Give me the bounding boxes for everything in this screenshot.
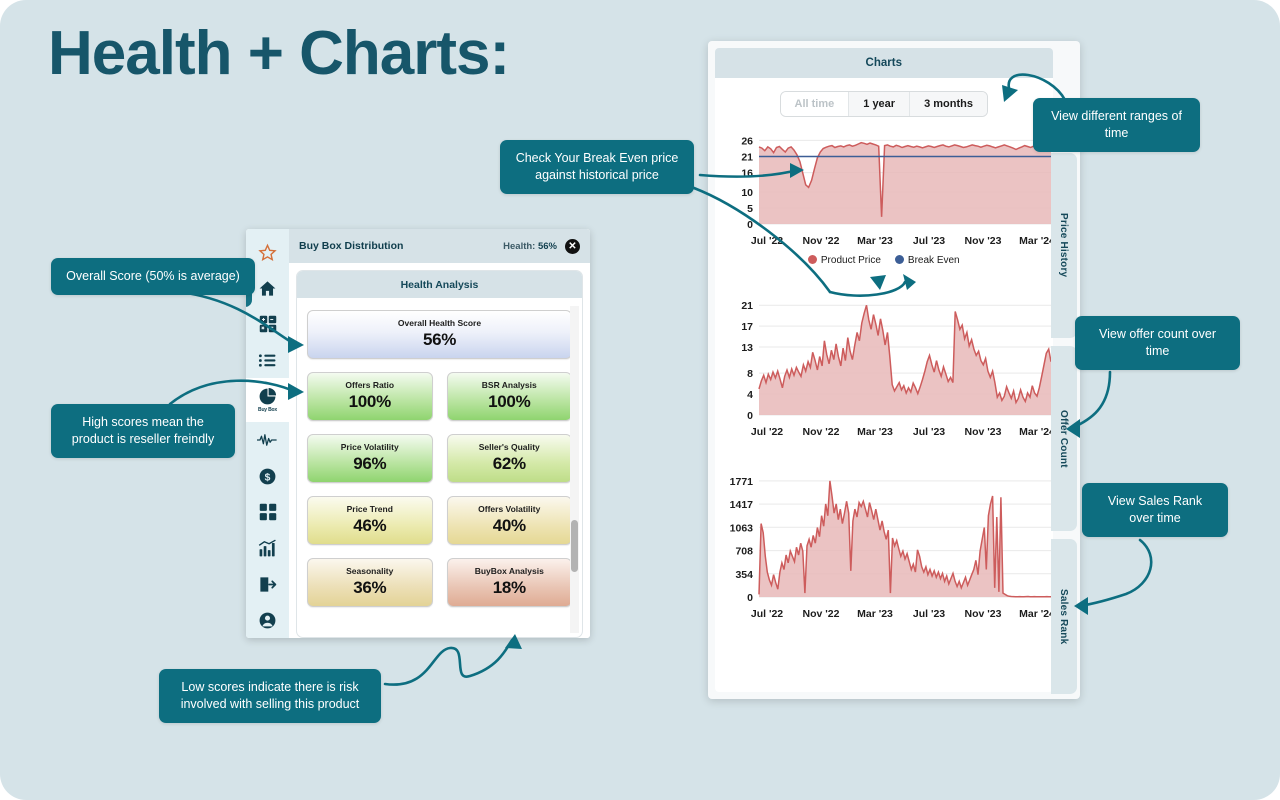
vtab-label: Sales Rank: [1058, 589, 1069, 644]
chart-price-history[interactable]: 2621161050Jul '22Nov '22Mar '23Jul '23No…: [715, 124, 1053, 266]
y-tick-label: 21: [741, 152, 753, 164]
health-score-value: 56%: [538, 241, 557, 252]
x-tick-label: Mar '24: [1019, 426, 1052, 438]
legend-label: Break Even: [908, 255, 960, 266]
arrow-low: [385, 640, 512, 685]
sidebar-item-dollar[interactable]: $: [246, 458, 289, 494]
sidebar-item-bar-chart[interactable]: [246, 530, 289, 566]
metric-card: Price Trend46%: [307, 496, 433, 545]
range-1-year[interactable]: 1 year: [848, 92, 909, 116]
health-analysis-card: Health Analysis Overall Health Score 56%…: [296, 270, 583, 638]
scrollbar-track[interactable]: [570, 306, 579, 633]
metric-label: Price Trend: [312, 504, 428, 514]
legend-swatch: [808, 255, 817, 264]
page-title: Health + Charts:: [48, 18, 509, 89]
sales-rank-plot: 1771141710637083540Jul '22Nov '22Mar '23…: [715, 467, 1053, 627]
metric-value: 56%: [312, 330, 567, 350]
price-history-plot: 2621161050Jul '22Nov '22Mar '23Jul '23No…: [715, 124, 1053, 254]
metric-value: 96%: [312, 454, 428, 474]
arrow-rank: [1080, 540, 1151, 606]
range-3-months[interactable]: 3 months: [909, 92, 987, 116]
health-analysis-title: Health Analysis: [297, 271, 582, 298]
vtab-label: Offer Count: [1058, 410, 1069, 468]
legend-item-break-even: Break Even: [895, 255, 960, 266]
x-tick-label: Nov '23: [965, 608, 1002, 620]
sidebar-item-logout[interactable]: [246, 566, 289, 602]
metric-label: Offers Volatility: [452, 504, 568, 514]
y-tick-label: 10: [741, 187, 753, 199]
vtab-label: Price History: [1058, 213, 1069, 277]
callout-high-scores: High scores mean the product is reseller…: [51, 404, 235, 458]
range-all-time[interactable]: All time: [781, 92, 849, 116]
scrollbar-thumb[interactable]: [571, 520, 578, 572]
y-tick-label: 16: [741, 168, 753, 180]
x-tick-label: Jul '22: [751, 235, 783, 247]
health-body: Health Analysis Overall Health Score 56%…: [289, 263, 590, 638]
window-title: Buy Box Distribution: [299, 240, 495, 252]
series-area: [759, 481, 1051, 597]
health-main: Buy Box Distribution Health: 56% ✕ Healt…: [289, 229, 590, 638]
y-tick-label: 1771: [730, 476, 754, 488]
y-tick-label: 354: [735, 569, 753, 581]
metric-label: Price Volatility: [312, 442, 428, 452]
x-tick-label: Mar '24: [1019, 608, 1052, 620]
sidebar-item-calculator[interactable]: [246, 306, 289, 342]
y-tick-label: 0: [747, 592, 753, 604]
sidebar-item-buy-box[interactable]: Buy Box: [246, 378, 289, 422]
metric-value: 36%: [312, 578, 428, 598]
metric-label: Offers Ratio: [312, 380, 428, 390]
offer-count-plot: 211713840Jul '22Nov '22Mar '23Jul '23Nov…: [715, 290, 1053, 445]
x-tick-label: Jul '23: [913, 235, 945, 247]
charts-window: Charts All time 1 year 3 months 26211610…: [708, 41, 1080, 699]
metric-value: 62%: [452, 454, 568, 474]
price-history-legend: Product Price Break Even: [715, 255, 1053, 266]
x-tick-label: Jul '22: [751, 426, 783, 438]
y-tick-label: 21: [741, 300, 753, 312]
y-tick-label: 5: [747, 203, 753, 215]
sidebar-item-buy-box-label: Buy Box: [258, 407, 277, 413]
x-tick-label: Nov '22: [803, 608, 840, 620]
metric-value: 46%: [312, 516, 428, 536]
y-tick-label: 17: [741, 321, 753, 333]
vtab-price-history[interactable]: Price History: [1051, 153, 1077, 338]
x-tick-label: Nov '22: [803, 426, 840, 438]
metric-label: BSR Analysis: [452, 380, 568, 390]
callout-break-even: Check Your Break Even price against hist…: [500, 140, 694, 194]
metric-card: Offers Volatility40%: [447, 496, 573, 545]
metric-card: BSR Analysis100%: [447, 372, 573, 421]
metric-label: Seasonality: [312, 566, 428, 576]
sidebar-item-list[interactable]: [246, 342, 289, 378]
x-tick-label: Jul '22: [751, 608, 783, 620]
metric-label: Seller's Quality: [452, 442, 568, 452]
y-tick-label: 0: [747, 410, 753, 422]
vtab-sales-rank[interactable]: Sales Rank: [1051, 539, 1077, 694]
x-tick-label: Jul '23: [913, 608, 945, 620]
chart-offer-count[interactable]: 211713840Jul '22Nov '22Mar '23Jul '23Nov…: [715, 290, 1053, 445]
callout-sales-rank: View Sales Rank over time: [1082, 483, 1228, 537]
callout-time-ranges: View different ranges of time: [1033, 98, 1200, 152]
callout-offer-count: View offer count over time: [1075, 316, 1240, 370]
sidebar-item-grid[interactable]: [246, 494, 289, 530]
x-tick-label: Jul '23: [913, 426, 945, 438]
poster-root: Health + Charts:: [0, 0, 1280, 800]
series-area: [759, 143, 1051, 224]
y-tick-label: 0: [747, 219, 753, 231]
health-topbar: Buy Box Distribution Health: 56% ✕: [289, 229, 590, 263]
metric-label: Overall Health Score: [312, 318, 567, 328]
legend-item-product-price: Product Price: [808, 255, 881, 266]
metric-value: 100%: [312, 392, 428, 412]
svg-text:$: $: [265, 472, 271, 483]
metric-label: BuyBox Analysis: [452, 566, 568, 576]
metric-value: 18%: [452, 578, 568, 598]
charts-title: Charts: [715, 48, 1053, 78]
x-tick-label: Nov '23: [965, 235, 1002, 247]
y-tick-label: 13: [741, 342, 753, 354]
sidebar-item-pulse[interactable]: [246, 422, 289, 458]
x-tick-label: Mar '23: [857, 235, 893, 247]
y-tick-label: 26: [741, 135, 753, 147]
y-tick-label: 4: [747, 389, 753, 401]
callout-low-scores: Low scores indicate there is risk involv…: [159, 669, 381, 723]
x-tick-label: Mar '24: [1019, 235, 1052, 247]
metric-card: BuyBox Analysis18%: [447, 558, 573, 607]
metric-overall-health-score: Overall Health Score 56%: [307, 310, 572, 359]
metric-card: Seller's Quality62%: [447, 434, 573, 483]
metric-card: Price Volatility96%: [307, 434, 433, 483]
vtab-offer-count[interactable]: Offer Count: [1051, 346, 1077, 531]
x-tick-label: Mar '23: [857, 608, 893, 620]
x-tick-label: Mar '23: [857, 426, 893, 438]
sidebar-item-profile[interactable]: [246, 602, 289, 638]
metric-card: Seasonality36%: [307, 558, 433, 607]
series-area: [759, 305, 1051, 415]
close-icon[interactable]: ✕: [565, 239, 580, 254]
callout-overall-score: Overall Score (50% is average): [51, 258, 255, 295]
time-range-control[interactable]: All time 1 year 3 months: [780, 91, 988, 117]
metric-value: 40%: [452, 516, 568, 536]
health-score-badge: Health: 56%: [503, 241, 557, 252]
y-tick-label: 1417: [730, 499, 754, 511]
y-tick-label: 708: [735, 546, 753, 558]
metric-value: 100%: [452, 392, 568, 412]
metric-card: Offers Ratio100%: [307, 372, 433, 421]
health-score-label: Health:: [503, 241, 535, 252]
charts-inner: Charts All time 1 year 3 months 26211610…: [715, 48, 1053, 692]
y-tick-label: 8: [747, 368, 753, 380]
legend-swatch: [895, 255, 904, 264]
y-tick-label: 1063: [730, 522, 754, 534]
x-tick-label: Nov '22: [803, 235, 840, 247]
legend-label: Product Price: [821, 255, 881, 266]
x-tick-label: Nov '23: [965, 426, 1002, 438]
time-range-row: All time 1 year 3 months: [715, 78, 1053, 124]
health-analysis-window: Buy Box $: [246, 229, 590, 638]
metrics-grid: Offers Ratio100%BSR Analysis100%Price Vo…: [307, 372, 572, 607]
chart-sales-rank[interactable]: 1771141710637083540Jul '22Nov '22Mar '23…: [715, 467, 1053, 627]
metrics-scroll-area[interactable]: Overall Health Score 56% Offers Ratio100…: [297, 298, 582, 637]
